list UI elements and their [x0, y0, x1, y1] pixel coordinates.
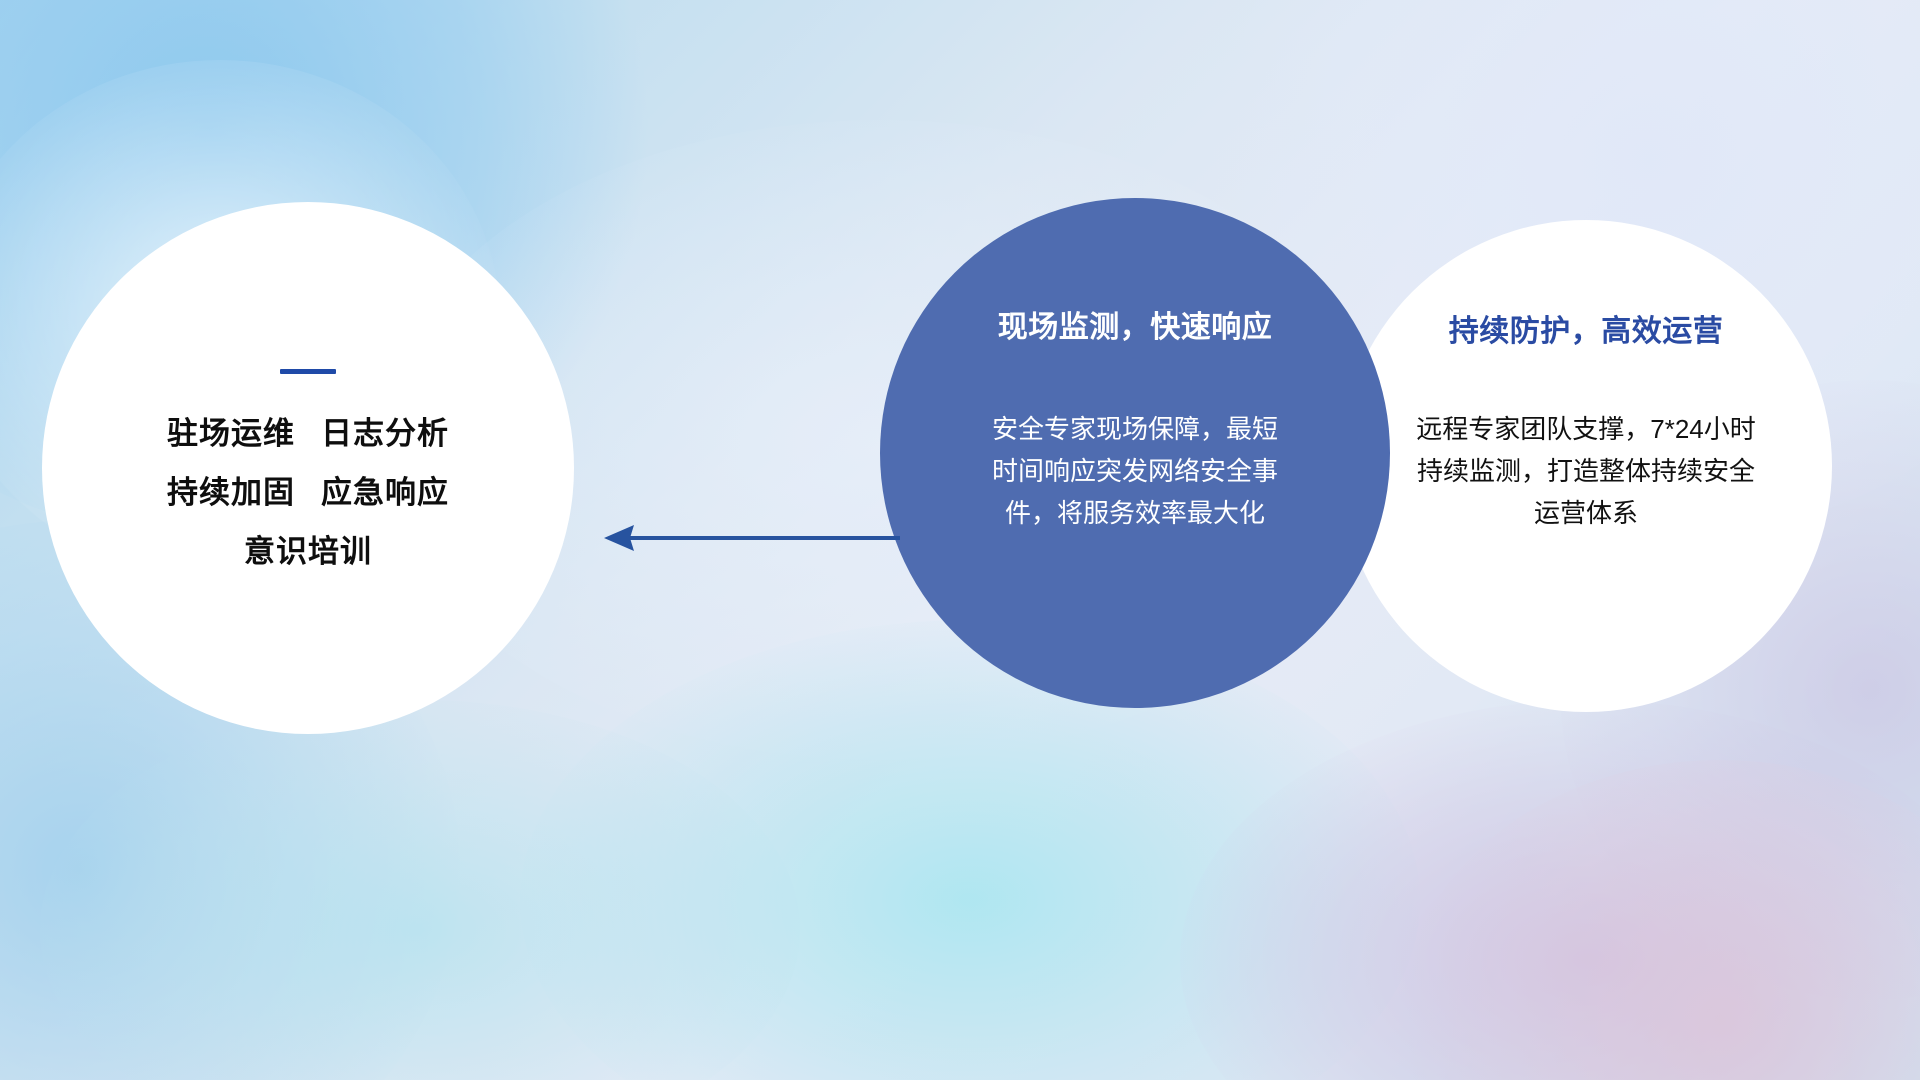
background-bloom-cyan-center	[520, 620, 1420, 1080]
service-circle-continuous[interactable]: 持续防护，高效运营 远程专家团队支撑，7*24小时持续监测，打造整体持续安全运营…	[1340, 220, 1832, 712]
slide-canvas: 驻场运维日志分析 持续加固应急响应 意识培训 现场监测，快速响应 安全专家现场保…	[0, 0, 1920, 1080]
capability-tag-1b: 日志分析	[321, 416, 449, 451]
background-bloom-violet-bottom	[1180, 700, 1920, 1080]
service-title-onsite: 现场监测，快速响应	[998, 302, 1273, 346]
accent-rule-divider	[280, 369, 336, 374]
capability-tag-1a: 驻场运维	[167, 416, 295, 451]
capability-row-3: 意识培训	[244, 536, 372, 567]
background-bloom-cyan-left	[40, 700, 800, 1080]
capability-circle-left[interactable]: 驻场运维日志分析 持续加固应急响应 意识培训	[42, 202, 574, 734]
capability-tag-2a: 持续加固	[167, 475, 295, 510]
capability-row-1: 驻场运维日志分析	[167, 418, 449, 449]
service-body-continuous: 远程专家团队支撑，7*24小时持续监测，打造整体持续安全运营体系	[1408, 408, 1764, 534]
connector-arrow-left	[600, 516, 900, 560]
arrow-left-icon	[600, 516, 900, 560]
capability-tag-3a: 意识培训	[244, 534, 372, 569]
capability-row-2: 持续加固应急响应	[167, 477, 449, 508]
background-bloom-pink-corner	[1400, 760, 1920, 1080]
service-title-continuous: 持续防护，高效运营	[1449, 306, 1724, 350]
service-circle-onsite[interactable]: 现场监测，快速响应 安全专家现场保障，最短时间响应突发网络安全事件，将服务效率最…	[880, 198, 1390, 708]
capability-tag-2b: 应急响应	[321, 475, 449, 510]
service-body-onsite: 安全专家现场保障，最短时间响应突发网络安全事件，将服务效率最大化	[985, 408, 1285, 534]
